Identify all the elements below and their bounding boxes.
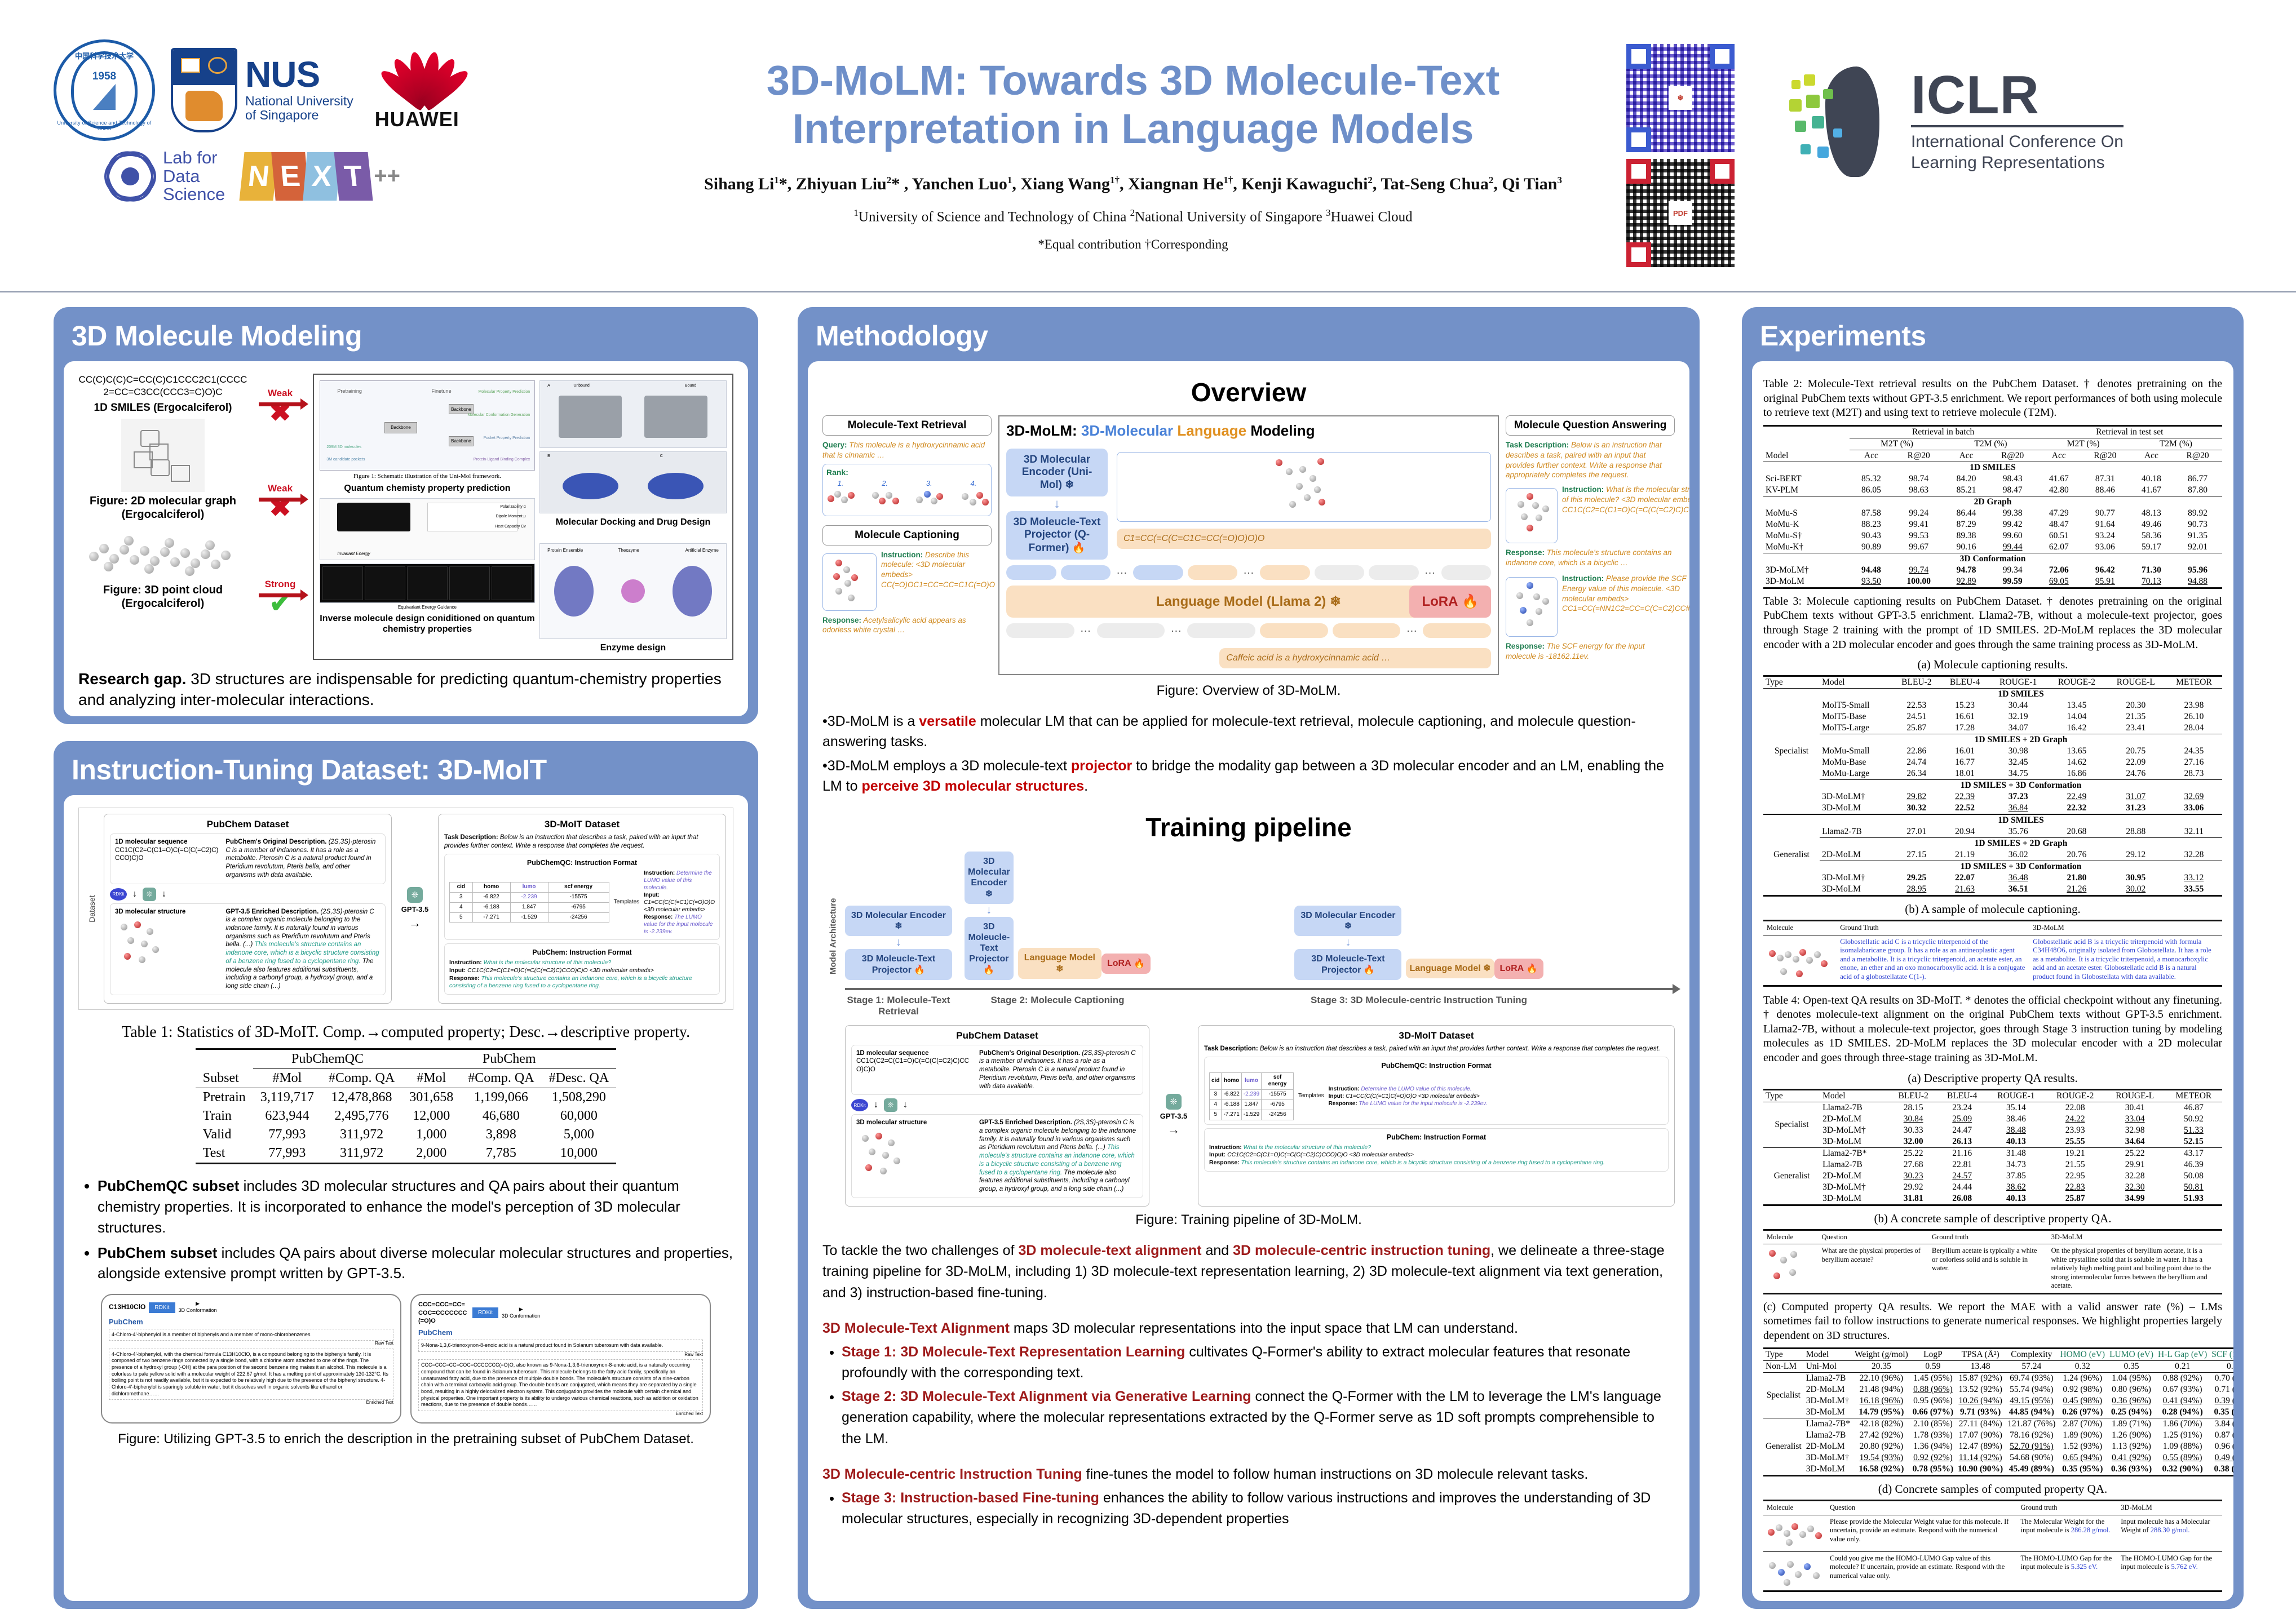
ustc-chinese-label: 中国科学技术大学 bbox=[75, 50, 134, 61]
table3a-subcaption: (a) Molecule captioning results. bbox=[1763, 658, 2222, 672]
section-3d-molecule-modeling: 3D Molecule Modeling CC(C)C(C)C=CC(C)C1C… bbox=[54, 307, 758, 724]
table-row: 3D-MoLM†19.54 (93%)0.92 (92%)11.14 (92%)… bbox=[1763, 1452, 2233, 1464]
sample-molecule-image bbox=[1763, 1244, 1819, 1294]
iclr-mark-icon bbox=[1781, 62, 1894, 180]
openai-icon: ❊ bbox=[1166, 1094, 1182, 1110]
table-row: MolT5-Small22.5315.2330.4413.4520.3023.9… bbox=[1763, 700, 2222, 711]
dataset-axis-label: Dataset bbox=[86, 814, 98, 1004]
openai-icon: ❊ bbox=[407, 887, 423, 903]
table-row: MoMu-K†90.8999.6790.1699.4462.0793.0659.… bbox=[1763, 542, 2222, 553]
applications-figure: Pretraining Finetune Backbone Backbone B… bbox=[313, 374, 733, 660]
table-row: Llama2-7B27.0120.9435.7620.6828.8832.11 bbox=[1763, 826, 2222, 838]
pubchemqc-example-table: cidhomo lumoscf energy 3-6.822-2.239-155… bbox=[1209, 1072, 1294, 1120]
table-row: 3D-MoLM32.0026.1340.1325.5534.6452.15 bbox=[1763, 1136, 2222, 1148]
table-row: 2D-MoLM30.2324.5737.8522.9532.2850.08 bbox=[1763, 1170, 2222, 1182]
table-row: MoMu-Small22.8616.0130.9813.6520.7524.35 bbox=[1763, 746, 2222, 757]
stage2-language-model: Language Model ❄ bbox=[1018, 948, 1101, 978]
fire-icon: 🔥 bbox=[1462, 593, 1479, 610]
overview-figure: Molecule-Text Retrieval Query: This mole… bbox=[822, 415, 1675, 675]
section-heading-3d-molecule-modeling: 3D Molecule Modeling bbox=[64, 316, 748, 361]
ustc-year: 1958 bbox=[92, 70, 116, 83]
table-row: GeneralistLlama2-7B*42.18 (82%)2.10 (85%… bbox=[1763, 1418, 2233, 1430]
section-heading-methodology: Methodology bbox=[808, 316, 1689, 361]
stage3-projector: 3D Moleucle-Text Projector 🔥 bbox=[1294, 949, 1401, 979]
table-row: SpecialistLlama2-7B22.10 (96%)1.45 (95%)… bbox=[1763, 1373, 2233, 1385]
architecture-title: 3D-MoLM: 3D-Molecular Language Modeling bbox=[1006, 422, 1491, 440]
lora-badge: LoRA 🔥 bbox=[1409, 586, 1491, 618]
section-heading-experiments: Experiments bbox=[1752, 316, 2233, 361]
table-row: MoMu-S†90.4399.5389.3899.6060.5193.2458.… bbox=[1763, 530, 2222, 542]
nus-name-line1: National University bbox=[245, 94, 353, 109]
table-descriptive-qa-sample: MoleculeQuestion Ground truth3D-MoLM Wha… bbox=[1763, 1229, 2222, 1294]
ustc-logo: 中国科学技术大学 1958 University of Science and … bbox=[54, 39, 155, 141]
training-pipeline-figure: Model Architecture 3D Molecular Encoder … bbox=[822, 852, 1675, 1207]
app-caption-docking: Molecular Docking and Drug Design bbox=[539, 517, 727, 527]
ustc-ring-text: University of Science and Technology of … bbox=[56, 120, 152, 131]
table-row: MoMu-K88.2399.4187.2999.4248.4791.6449.4… bbox=[1763, 519, 2222, 530]
app-caption-qc: Quantum chemisty property prediction bbox=[320, 483, 535, 494]
ustc-sail-icon bbox=[93, 84, 116, 110]
table-row: 3D-MoLM16.58 (92%)0.78 (95%)10.90 (90%)4… bbox=[1763, 1464, 2233, 1476]
table-row: MoMu-S87.5899.2486.4499.3847.2990.7748.1… bbox=[1763, 508, 2222, 519]
moit-dataset-card: 3D-MoIT Dataset Task Description: Below … bbox=[438, 814, 726, 1004]
arrow-weak-2: Weak ✖ bbox=[259, 483, 302, 551]
app-caption-inverse-design: Inverse molecule design coniditioned on … bbox=[320, 613, 535, 635]
header-divider bbox=[0, 291, 2296, 292]
table-row: 2D-MoLM27.1521.1936.0220.7629.1232.28 bbox=[1763, 849, 2222, 861]
table-row: 3D-MoLM93.50100.0092.8999.5969.0595.9170… bbox=[1763, 576, 2222, 588]
gpt-enrichment-figure: C13H10ClO RDKit ▶3D Conformation PubChem… bbox=[78, 1294, 733, 1424]
table-row: What are the physical properties of bery… bbox=[1763, 1244, 2222, 1294]
page-title-line1: 3D-MoLM: Towards 3D Molecule-Text bbox=[648, 56, 1618, 105]
smiles-string: CC(C)C(C)C=CC(C)C1CCC2C1(CCCC2=CC=C3CC(C… bbox=[78, 374, 247, 398]
tag-molecule-qa: Molecule Question Answering bbox=[1506, 415, 1675, 436]
nus-shield-icon bbox=[171, 48, 237, 132]
stage1-encoder: 3D Molecular Encoder ❄ bbox=[845, 906, 952, 936]
heading-instruction-tuning: 3D Molecule-centric Instruction Tuning f… bbox=[822, 1464, 1675, 1485]
pipeline-axis-model-architecture: Model Architecture bbox=[826, 852, 840, 1021]
huawei-wordmark: HUAWEI bbox=[375, 108, 459, 131]
methodology-bullets: •3D-MoLM is a versatile molecular LM tha… bbox=[822, 711, 1675, 796]
table4a-subcaption: (a) Descriptive property QA results. bbox=[1763, 1071, 2222, 1085]
encoder-box: 3D Molecular Encoder (Uni-Mol) ❄ bbox=[1006, 449, 1108, 496]
openai-icon: ❊ bbox=[884, 1098, 897, 1112]
qa-molecule-1 bbox=[1506, 488, 1558, 543]
app-caption-enzyme: Enzyme design bbox=[539, 642, 727, 653]
stage1-projector: 3D Moleucle-Text Projector 🔥 bbox=[845, 949, 952, 979]
table1-caption: Table 1: Statistics of 3D-MoIT. Comp.→co… bbox=[78, 1023, 733, 1041]
pipeline-timeline bbox=[845, 988, 1675, 990]
lab-for-data-science-logo: Lab for Data Science bbox=[104, 149, 225, 204]
stage3-lora: LoRA 🔥 bbox=[1494, 959, 1543, 979]
enrichment-figure-caption: Figure: Utilizing GPT-3.5 to enrich the … bbox=[78, 1431, 733, 1447]
projector-box: 3D Moleucle-Text Projector (Q-Former) 🔥 bbox=[1006, 511, 1108, 560]
list-item: Stage 3: Instruction-based Fine-tuning e… bbox=[842, 1488, 1675, 1530]
paragraph-challenges: To tackle the two challenges of 3D molec… bbox=[822, 1240, 1675, 1304]
sample-molecule-image bbox=[1763, 1551, 1826, 1591]
atom-icon bbox=[104, 150, 156, 202]
table-row: 3D-MoLM†94.4899.7494.7899.3472.0696.4271… bbox=[1763, 565, 2222, 576]
table-molecule-text-retrieval: Retrieval in batch Retrieval in test set… bbox=[1763, 425, 2222, 589]
section-heading-dataset: Instruction-Tuning Dataset: 3D-MoIT bbox=[64, 750, 748, 795]
nus-acronym: NUS bbox=[245, 57, 353, 92]
table-3dmoit-statistics: PubChemQC PubChem Subset #Mol#Comp. QA #… bbox=[196, 1048, 616, 1164]
logo-group-left: 中国科学技术大学 1958 University of Science and … bbox=[54, 39, 538, 204]
table-row: 2D-MoLM20.80 (92%)1.36 (94%)12.47 (89%)5… bbox=[1763, 1441, 2233, 1452]
strength-arrows: Weak ✖ Weak ✖ Strong ✔ bbox=[253, 374, 307, 660]
stage-label-3: Stage 3: 3D Molecule-centric Instruction… bbox=[1163, 995, 1675, 1006]
table-row: Please provide the Molecular Weight valu… bbox=[1763, 1515, 2222, 1551]
table-row: 3D-MoLM†30.3324.4738.4823.9332.9851.33 bbox=[1763, 1125, 2222, 1136]
poster-columns: 3D Molecule Modeling CC(C)C(C)C=CC(C)C1C… bbox=[0, 307, 2296, 1615]
arrow-strong: Strong ✔ bbox=[259, 579, 302, 646]
stage-label-1: Stage 1: Molecule-Text Retrieval bbox=[845, 995, 952, 1017]
generated-output-box: Caffeic acid is a hydroxycinnamic acid … bbox=[1219, 648, 1491, 668]
smiles-token-box: C1=CC(=C(C=C1C=CC(=O)O)O)O bbox=[1117, 529, 1491, 549]
snowflake-icon: ❄ bbox=[1344, 921, 1352, 931]
contribution-note: *Equal contribution †Corresponding bbox=[648, 237, 1618, 252]
overview-figure-caption: Figure: Overview of 3D-MoLM. bbox=[822, 683, 1675, 699]
table3-caption: Table 3: Molecule captioning results on … bbox=[1763, 595, 2222, 652]
table4-caption: Table 4: Open-text QA results on 3D-MoIT… bbox=[1763, 994, 2222, 1066]
table-row: Non-LMUni-Mol 20.350.5913.48 57.240.320.… bbox=[1763, 1361, 2233, 1373]
qa-molecule-2 bbox=[1506, 577, 1558, 637]
paper-pdf-qr-code[interactable]: PDF bbox=[1626, 159, 1735, 267]
overview-right-column: Molecule Question Answering Task Descrip… bbox=[1506, 415, 1675, 675]
iclr-logo: ICLR International Conference On Learnin… bbox=[1781, 62, 2124, 180]
snowflake-icon: ❄ bbox=[1065, 479, 1074, 491]
pipeline-pubchem-card: PubChem Dataset 1D molecular sequenceCC1… bbox=[845, 1025, 1149, 1207]
list-item: PubChem subset includes QA pairs about d… bbox=[98, 1243, 733, 1284]
pipeline-figure-caption: Figure: Training pipeline of 3D-MoLM. bbox=[822, 1212, 1675, 1228]
fire-icon: 🔥 bbox=[1527, 963, 1538, 974]
list-item: •3D-MoLM is a versatile molecular LM tha… bbox=[822, 711, 1675, 752]
moit-card-title: 3D-MoIT Dataset bbox=[444, 819, 720, 830]
table-computed-qa-samples: MoleculeQuestion Ground truth3D-MoLM Ple… bbox=[1763, 1500, 2222, 1592]
tag-molecule-captioning: Molecule Captioning bbox=[822, 525, 992, 546]
fire-icon: 🔥 bbox=[914, 965, 925, 975]
stage2-encoder: 3D Molecular Encoder ❄ bbox=[965, 852, 1014, 904]
snowflake-icon: ❄ bbox=[1483, 964, 1490, 973]
stage2-lora: LoRA 🔥 bbox=[1101, 954, 1151, 974]
output-token-row: … … … bbox=[1006, 623, 1491, 638]
arrow-weak-1: Weak ✖ bbox=[259, 388, 302, 455]
author-list: Sihang Li1*, Zhiyuan Liu2* , Yanchen Luo… bbox=[648, 175, 1618, 194]
lds-line1: Lab for bbox=[163, 149, 225, 167]
table-row: 3D-MoLM†16.18 (96%)0.95 (96%)10.26 (94%)… bbox=[1763, 1395, 2233, 1407]
table-row: 2D-MoLM30.8425.0938.4624.2233.0450.92 bbox=[1763, 1114, 2222, 1125]
list-item: Stage 2: 3D Molecule-Text Alignment via … bbox=[842, 1386, 1675, 1450]
project-qr-code[interactable]: ❄ bbox=[1626, 44, 1735, 152]
table-row: Sci-BERT85.3298.7484.2098.4341.6787.3140… bbox=[1763, 473, 2222, 485]
poster-root: 中国科学技术大学 1958 University of Science and … bbox=[0, 0, 2296, 1623]
pdf-icon: PDF bbox=[1669, 201, 1692, 225]
table-row: MoMu-Base24.7416.7732.4514.6222.0927.16 bbox=[1763, 757, 2222, 768]
molecule-2d-graph-image bbox=[121, 419, 205, 492]
table-molecule-captioning: TypeModel BLEU-2BLEU-4ROUGE-1 ROUGE-2ROU… bbox=[1763, 675, 2222, 897]
overview-architecture: 3D-MoLM: 3D-Molecular Language Modeling … bbox=[998, 415, 1499, 675]
nus-name-line2: of Singapore bbox=[245, 108, 353, 123]
next-plus-plus-logo: N E X T ++ bbox=[242, 152, 400, 201]
gpt35-label: GPT-3.5 bbox=[1160, 1112, 1187, 1120]
language-model-bar: Language Model (Llama 2) ❄ LoRA 🔥 bbox=[1006, 586, 1491, 618]
table-row: 3D-MoLM31.8126.0840.1325.8734.9951.93 bbox=[1763, 1193, 2222, 1205]
table-row: MolT5-Large25.8717.2834.0716.4223.4128.0… bbox=[1763, 722, 2222, 734]
table-row: MolT5-Base24.5116.6132.1914.0421.3526.10 bbox=[1763, 711, 2222, 722]
lds-line3: Science bbox=[163, 185, 225, 204]
tag-molecule-text-retrieval: Molecule-Text Retrieval bbox=[822, 415, 992, 436]
table-row: 2D-MoLM21.48 (94%)0.88 (96%)13.52 (92%)5… bbox=[1763, 1384, 2233, 1395]
overview-left-column: Molecule-Text Retrieval Query: This mole… bbox=[822, 415, 992, 675]
iclr-acronym: ICLR bbox=[1911, 69, 2124, 121]
templates-label: Templates bbox=[614, 899, 640, 906]
fire-icon: 🔥 bbox=[1364, 965, 1375, 975]
research-gap-text: Research gap. 3D structures are indispen… bbox=[78, 669, 733, 711]
table4d-subcaption: (d) Concrete samples of computed propert… bbox=[1763, 1482, 2222, 1496]
huawei-logo: HUAWEI bbox=[375, 49, 459, 131]
table-row: SpecialistLlama2-7B28.1523.2435.1422.083… bbox=[1763, 1102, 2222, 1114]
iclr-divider bbox=[1911, 125, 2124, 127]
snowflake-icon: ❄ bbox=[1330, 593, 1341, 610]
dataset-bullets: PubChemQC subset includes 3D molecular s… bbox=[78, 1176, 733, 1284]
list-item: Stage 1: 3D Molecule-Text Representation… bbox=[842, 1342, 1675, 1384]
table-descriptive-property-qa: TypeModel BLEU-2BLEU-4ROUGE-1 ROUGE-2ROU… bbox=[1763, 1089, 2222, 1206]
stage2-projector: 3D Moleucle-Text Projector 🔥 bbox=[965, 917, 1014, 980]
page-title-line2: Interpretation in Language Models bbox=[648, 105, 1618, 153]
next-plus-sign: ++ bbox=[374, 163, 400, 189]
pipeline-moit-card: 3D-MoIT Dataset Task Description: Below … bbox=[1198, 1025, 1675, 1207]
affiliation-list: 1University of Science and Technology of… bbox=[648, 207, 1618, 225]
table-row: MoMu-Large26.3418.0134.7516.8624.7628.73 bbox=[1763, 768, 2222, 780]
table4c-caption: (c) Computed property QA results. We rep… bbox=[1763, 1300, 2222, 1343]
next-letter-t: T bbox=[334, 152, 373, 201]
table-row: Could you give me the HOMO-LUMO Gap valu… bbox=[1763, 1551, 2222, 1591]
huawei-flower-icon bbox=[375, 49, 459, 105]
fire-icon: 🔥 bbox=[1072, 542, 1086, 554]
table-row: 3D-MoLM14.79 (95%)0.66 (97%)9.71 (93%)44… bbox=[1763, 1407, 2233, 1418]
molecule-3d-point-cloud-image bbox=[87, 529, 239, 581]
training-pipeline-title: Training pipeline bbox=[822, 812, 1675, 842]
table-row: Llama2-7B27.6822.8134.7321.5529.9146.39 bbox=[1763, 1159, 2222, 1170]
captioning-molecule bbox=[822, 553, 877, 611]
methodology-body: To tackle the two challenges of 3D molec… bbox=[822, 1240, 1675, 1530]
table-row: 3D-MoLM28.9521.6336.5121.2630.0233.55 bbox=[1763, 884, 2222, 896]
input-token-row: … … … bbox=[1006, 565, 1491, 580]
table4b-subcaption: (b) A concrete sample of descriptive pro… bbox=[1763, 1212, 2222, 1226]
fire-icon: 🔥 bbox=[1134, 958, 1145, 969]
dataset-pipeline-figure: Dataset PubChem Dataset 1D molecular seq… bbox=[78, 808, 733, 1010]
poster-header: 中国科学技术大学 1958 University of Science and … bbox=[0, 0, 2296, 293]
table-row: 3D-MoLM†29.9224.4438.6222.8332.3050.81 bbox=[1763, 1182, 2222, 1193]
table-row: Globostellatic acid C is a tricyclic tri… bbox=[1763, 935, 2222, 986]
gpt35-label: GPT-3.5 bbox=[401, 905, 428, 914]
sample-molecule-image bbox=[1763, 935, 1837, 986]
stage3-language-model: Language Model ❄ bbox=[1406, 959, 1494, 978]
fire-icon: 🔥 bbox=[983, 965, 994, 975]
stage3-encoder: 3D Molecular Encoder ❄ bbox=[1294, 906, 1401, 936]
table-row: 3D-MoLM†29.2522.0736.4821.8030.9533.12 bbox=[1763, 872, 2222, 884]
stage-label-2: Stage 2: Molecule Captioning bbox=[965, 995, 1151, 1006]
sample-molecule-image bbox=[1763, 1515, 1826, 1551]
retrieval-rank-box: Rank: 1. 2. 3. 4. bbox=[822, 464, 992, 516]
table-row: Llama2-7B27.42 (92%)1.78 (93%)17.07 (90%… bbox=[1763, 1430, 2233, 1441]
pubchemqc-example-table: cidhomo lumoscf energy 3-6.822-2.239-155… bbox=[449, 882, 609, 923]
openai-icon: ❊ bbox=[143, 888, 156, 901]
section-methodology: Methodology Overview Molecule-Text Retri… bbox=[798, 307, 1700, 1609]
table-row: KV-PLM86.0598.6385.2198.4742.8088.4641.6… bbox=[1763, 485, 2222, 496]
lds-line2: Data bbox=[163, 167, 225, 186]
iclr-subtitle-line1: International Conference On bbox=[1911, 132, 2124, 153]
table-row: GeneralistLlama2-7B*25.2221.1631.4819.21… bbox=[1763, 1147, 2222, 1159]
snowflake-icon: ❄ bbox=[895, 921, 902, 931]
input-molecule bbox=[1117, 452, 1491, 522]
list-item: PubChemQC subset includes 3D molecular s… bbox=[98, 1176, 733, 1238]
section-instruction-tuning-dataset: Instruction-Tuning Dataset: 3D-MoIT Data… bbox=[54, 741, 758, 1609]
table-captioning-sample: Molecule Ground Truth 3D-MoLM bbox=[1763, 920, 2222, 987]
smiles-caption: 1D SMILES (Ergocalciferol) bbox=[78, 402, 247, 414]
qr-code-group: ❄ PDF bbox=[1626, 44, 1739, 267]
figure-caption-3d: Figure: 3D point cloud (Ergocalciferol) bbox=[78, 583, 247, 610]
title-block: 3D-MoLM: Towards 3D Molecule-Text Interp… bbox=[648, 56, 1618, 252]
qr-center-icon: ❄ bbox=[1669, 86, 1692, 110]
section-experiments: Experiments Table 2: Molecule-Text retri… bbox=[1742, 307, 2244, 1609]
table2-caption: Table 2: Molecule-Text retrieval results… bbox=[1763, 377, 2222, 420]
heading-alignment: 3D Molecule-Text Alignment maps 3D molec… bbox=[822, 1318, 1675, 1340]
snowflake-icon: ❄ bbox=[985, 889, 993, 899]
figure-caption-2d: Figure: 2D molecular graph (Ergocalcifer… bbox=[78, 494, 247, 521]
unimol-figure-caption: Figure 1: Schematic illustration of the … bbox=[320, 473, 535, 480]
snowflake-icon: ❄ bbox=[1056, 964, 1063, 974]
table-row: 3D-MoLM30.3222.5236.8422.3231.2333.06 bbox=[1763, 802, 2222, 814]
overview-title: Overview bbox=[822, 377, 1675, 407]
table3b-subcaption: (b) A sample of molecule captioning. bbox=[1763, 902, 2222, 916]
rdkit-icon: RDKit bbox=[110, 888, 127, 901]
nus-logo: NUS National University of Singapore bbox=[171, 48, 353, 132]
pubchem-card-title: PubChem Dataset bbox=[110, 819, 386, 830]
table-computed-property-qa: TypeModel Weight (g/mol)LogPTPSA (Å²) Co… bbox=[1763, 1347, 2233, 1476]
rdkit-icon: RDKit bbox=[851, 1099, 868, 1111]
pubchem-dataset-card: PubChem Dataset 1D molecular sequence CC… bbox=[104, 814, 392, 1004]
table-row: 3D-MoLM†29.8222.3937.2322.4931.0732.69 bbox=[1763, 791, 2222, 802]
molecule-representations: CC(C)C(C)C=CC(C)C1CCC2C1(CCCC2=CC=C3CC(C… bbox=[78, 374, 247, 660]
list-item: •3D-MoLM employs a 3D molecule-text proj… bbox=[822, 756, 1675, 797]
iclr-subtitle-line2: Learning Representations bbox=[1911, 153, 2124, 174]
